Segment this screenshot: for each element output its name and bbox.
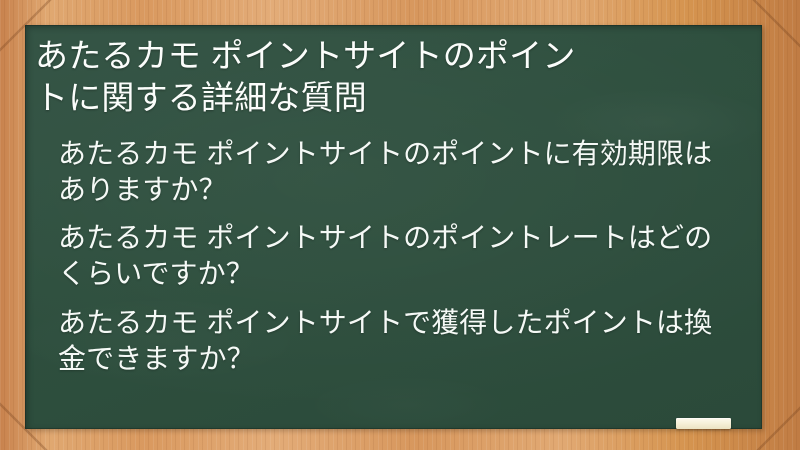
list-item: あたるカモ ポイントサイトのポイントレートはどのくらいですか？ — [35, 220, 744, 292]
page-title-line-2: トに関する詳細な質問 — [35, 79, 367, 116]
page-title-line-1: あたるカモ ポイントサイトのポイン — [35, 37, 576, 74]
list-item: あたるカモ ポイントサイトで獲得したポイントは換金できますか？ — [35, 305, 744, 377]
blackboard-slide: あたるカモ ポイントサイトのポイントに関する詳細な質問 あたるカモ ポイントサイ… — [0, 0, 800, 450]
chalk-stick-icon — [676, 418, 731, 429]
chalkboard-surface: あたるカモ ポイントサイトのポイントに関する詳細な質問 あたるカモ ポイントサイ… — [25, 25, 762, 429]
list-item: あたるカモ ポイントサイトのポイントに有効期限はありますか？ — [35, 136, 744, 208]
board-content: あたるカモ ポイントサイトのポイントに関する詳細な質問 あたるカモ ポイントサイ… — [25, 25, 762, 429]
page-title: あたるカモ ポイントサイトのポイントに関する詳細な質問 — [35, 35, 744, 118]
question-list: あたるカモ ポイントサイトのポイントに有効期限はありますか？ あたるカモ ポイン… — [35, 136, 744, 377]
